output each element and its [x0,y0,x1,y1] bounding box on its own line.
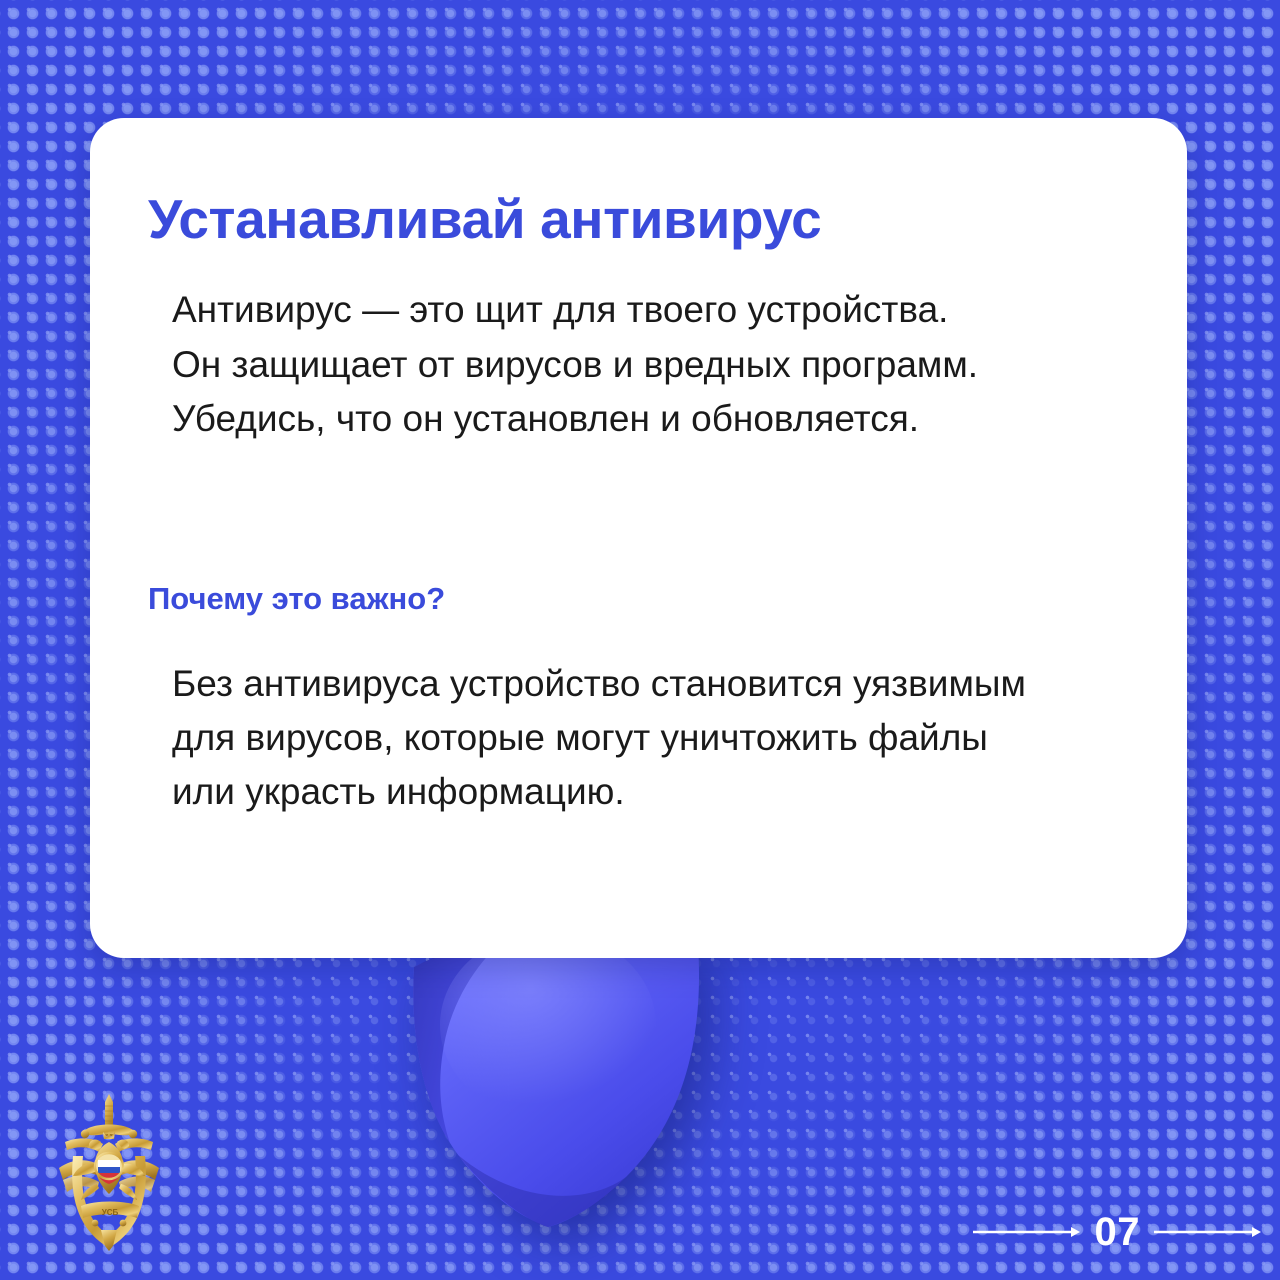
emblem-banner-text: УСБ [102,1208,119,1217]
pager: 07 [973,1206,1263,1258]
why-line-1: Без антивируса устройство становится уяз… [172,663,1026,704]
why-paragraph: Без антивируса устройство становится уяз… [148,657,1125,820]
content-card: Устанавливай антивирус Антивирус — это щ… [90,118,1187,958]
page-number: 07 [1095,1212,1141,1252]
why-subheading: Почему это важно? [148,581,1125,617]
intro-paragraph: Антивирус — это щит для твоего устройств… [148,283,1125,446]
intro-line-2: Он защищает от вирусов и вредных програм… [172,344,978,385]
why-line-3: или украсть информацию. [172,771,625,812]
arrow-right-icon-right [1154,1225,1262,1239]
mvd-usb-emblem-icon: УСБ [55,1092,165,1252]
slide-canvas: Устанавливай антивирус Антивирус — это щ… [0,0,1280,1280]
page-title: Устанавливай антивирус [148,190,1125,249]
intro-line-1: Антивирус — это щит для твоего устройств… [172,289,948,330]
why-line-2: для вирусов, которые могут уничтожить фа… [172,717,988,758]
arrow-right-icon-left [973,1225,1081,1239]
intro-line-3: Убедись, что он установлен и обновляется… [172,398,919,439]
card-content: Устанавливай антивирус Антивирус — это щ… [90,118,1187,958]
